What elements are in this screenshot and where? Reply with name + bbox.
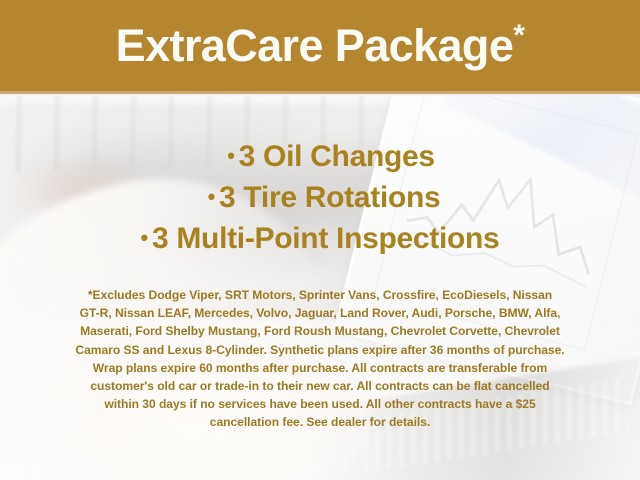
bullet-dot-icon: • [141,225,148,250]
page-title: ExtraCare Package* [116,23,525,72]
disclaimer-line: Camaro SS and Lexus 8-Cylinder. Syntheti… [26,341,614,359]
disclaimer-line: Wrap plans expire 60 months after purcha… [26,359,614,377]
disclaimer-line: GT-R, Nissan LEAF, Mercedes, Volvo, Jagu… [26,304,614,322]
page-title-asterisk: * [513,19,524,52]
disclaimer-text: *Excludes Dodge Viper, SRT Motors, Sprin… [26,286,614,432]
offer-label: 3 Oil Changes [239,140,435,173]
offer-list-item: •3 Oil Changes [0,136,640,177]
offer-list: •3 Oil Changes •3 Tire Rotations •3 Mult… [0,136,640,259]
bullet-dot-icon: • [227,143,234,168]
header-bar: ExtraCare Package* [0,0,640,94]
page-title-text: ExtraCare Package [116,20,514,71]
offer-list-item: •3 Tire Rotations [0,177,640,218]
offer-label: 3 Tire Rotations [219,181,440,214]
disclaimer-line: cancellation fee. See dealer for details… [26,413,614,431]
disclaimer-line: customer's old car or trade-in to their … [26,377,614,395]
extracare-package-banner: ExtraCare Package* •3 Oil Changes •3 Tir… [0,0,640,480]
offer-label: 3 Multi-Point Inspections [152,222,500,255]
bullet-dot-icon: • [208,184,215,209]
offer-list-item: •3 Multi-Point Inspections [0,218,640,259]
disclaimer-line: Maserati, Ford Shelby Mustang, Ford Rous… [26,322,614,340]
disclaimer-line: within 30 days if no services have been … [26,395,614,413]
disclaimer-line: *Excludes Dodge Viper, SRT Motors, Sprin… [26,286,614,304]
